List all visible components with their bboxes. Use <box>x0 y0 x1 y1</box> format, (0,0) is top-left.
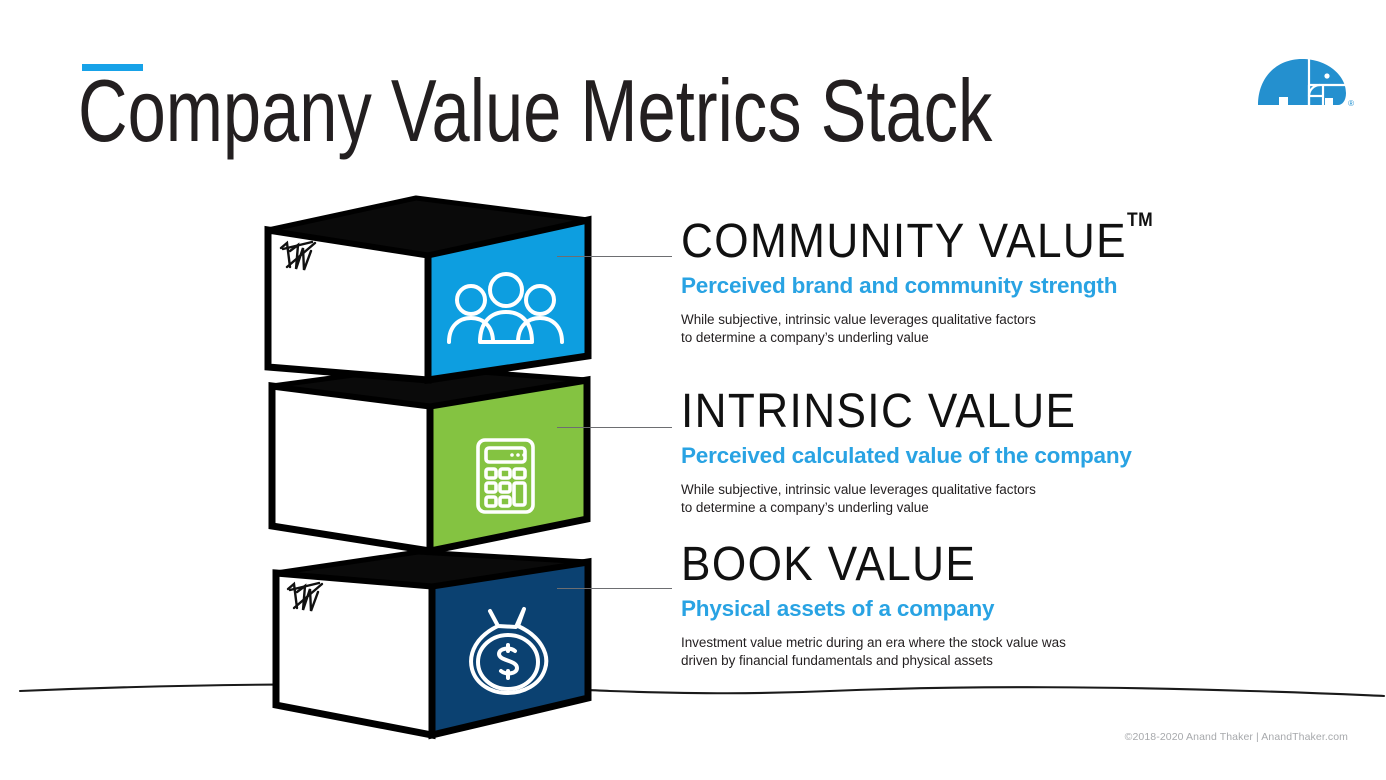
connector-line-community <box>557 256 672 257</box>
layer-title-community: COMMUNITY VALUETM <box>681 218 1153 266</box>
page-title: Company Value Metrics Stack <box>78 62 992 161</box>
body-line-2: to determine a company’s underling value <box>681 329 1194 347</box>
layer-body-intrinsic: While subjective, intrinsic value levera… <box>681 481 1132 516</box>
connector-line-book <box>557 588 672 589</box>
body-line-1: While subjective, intrinsic value levera… <box>681 311 1194 329</box>
body-line-2: to determine a company’s underling value <box>681 499 1132 517</box>
layer-subtitle-book: Physical assets of a company <box>681 596 1066 622</box>
connector-line-intrinsic <box>557 427 672 428</box>
cube-book-value[interactable] <box>276 552 588 735</box>
body-line-1: While subjective, intrinsic value levera… <box>681 481 1132 499</box>
layer-text-community-value: COMMUNITY VALUETM Perceived brand and co… <box>681 218 1194 346</box>
copyright-footer: ©2018-2020 Anand Thaker | AnandThaker.co… <box>1125 731 1348 743</box>
layer-title-text: COMMUNITY VALUE <box>681 215 1127 268</box>
registered-mark: ® <box>1348 99 1354 108</box>
layer-text-intrinsic-value: INTRINSIC VALUE Perceived calculated val… <box>681 388 1132 516</box>
layer-text-book-value: BOOK VALUE Physical assets of a company … <box>681 541 1066 669</box>
layer-title-text: INTRINSIC VALUE <box>681 385 1076 438</box>
layer-subtitle-community: Perceived brand and community strength <box>681 273 1194 299</box>
trademark-mark: TM <box>1127 210 1153 231</box>
layer-title-intrinsic: INTRINSIC VALUE <box>681 388 1096 436</box>
slide-canvas: Company Value Metrics Stack ® <box>0 0 1386 780</box>
layer-subtitle-intrinsic: Perceived calculated value of the compan… <box>681 443 1132 469</box>
layer-title-text: BOOK VALUE <box>681 538 976 591</box>
value-cube-stack <box>250 190 610 740</box>
calculator-display-dots <box>510 453 526 457</box>
layer-body-community: While subjective, intrinsic value levera… <box>681 311 1194 346</box>
body-line-1: Investment value metric during an era wh… <box>681 634 1066 652</box>
elephant-logo-icon <box>1255 55 1350 110</box>
body-line-2: driven by financial fundamentals and phy… <box>681 652 1066 670</box>
cube-intrinsic-value[interactable] <box>272 367 587 551</box>
cube-community-value[interactable] <box>268 198 588 380</box>
layer-body-book: Investment value metric during an era wh… <box>681 634 1066 669</box>
layer-title-book: BOOK VALUE <box>681 541 1035 589</box>
anand-thaker-elephant-logo: ® <box>1255 55 1350 110</box>
